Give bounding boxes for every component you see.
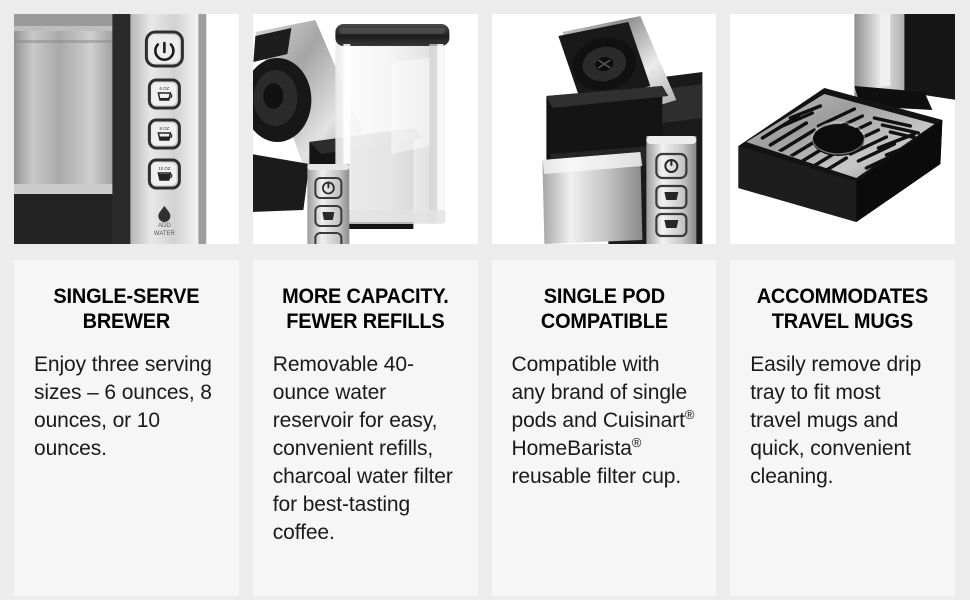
feature-photo-water-reservoir xyxy=(253,14,478,244)
feature-description: Easily remove drip tray to fit most trav… xyxy=(750,351,935,491)
svg-text:ADD: ADD xyxy=(158,223,171,229)
feature-title: SINGLE-SERVE BREWER xyxy=(39,284,215,334)
registered-mark-icon: ® xyxy=(685,407,695,422)
desc-part-2: HomeBarista xyxy=(512,437,632,460)
svg-text:8 OZ: 8 OZ xyxy=(159,126,169,131)
feature-grid: 6 OZ 8 OZ 10 OZ xyxy=(0,0,970,600)
feature-card-single-serve-brewer: SINGLE-SERVE BREWER Enjoy three serving … xyxy=(14,260,239,596)
svg-text:WATER: WATER xyxy=(154,231,176,237)
feature-photo-control-panel: 6 OZ 8 OZ 10 OZ xyxy=(14,14,239,244)
registered-mark-icon: ® xyxy=(632,435,642,450)
feature-title: MORE CAPACITY. FEWER REFILLS xyxy=(277,284,453,334)
pod-chamber-illustration xyxy=(492,14,717,244)
feature-title: SINGLE POD COMPATIBLE xyxy=(516,284,692,334)
feature-photo-pod-chamber xyxy=(492,14,717,244)
drip-tray-drain-hole xyxy=(813,124,865,156)
feature-description: Removable 40-ounce water reservoir for e… xyxy=(273,351,458,547)
feature-photo-drip-tray xyxy=(730,14,955,244)
svg-text:10 OZ: 10 OZ xyxy=(158,166,171,171)
control-panel-illustration: 6 OZ 8 OZ 10 OZ xyxy=(14,14,239,244)
feature-card-accommodates-travel-mugs: ACCOMMODATES TRAVEL MUGS Easily remove d… xyxy=(730,260,955,596)
feature-title: ACCOMMODATES TRAVEL MUGS xyxy=(755,284,931,334)
feature-description: Compatible with any brand of single pods… xyxy=(512,351,697,491)
drip-tray-illustration xyxy=(730,14,955,244)
desc-part-3: reusable filter cup. xyxy=(512,465,682,488)
desc-part-1: Compatible with any brand of single pods… xyxy=(512,353,688,432)
power-button-icon xyxy=(146,32,182,66)
feature-description: Enjoy three serving sizes – 6 ounces, 8 … xyxy=(34,351,219,463)
feature-card-single-pod-compatible: SINGLE POD COMPATIBLE Compatible with an… xyxy=(492,260,717,596)
svg-text:6 OZ: 6 OZ xyxy=(159,86,169,91)
water-reservoir-illustration xyxy=(253,14,478,244)
feature-card-more-capacity: MORE CAPACITY. FEWER REFILLS Removable 4… xyxy=(253,260,478,596)
